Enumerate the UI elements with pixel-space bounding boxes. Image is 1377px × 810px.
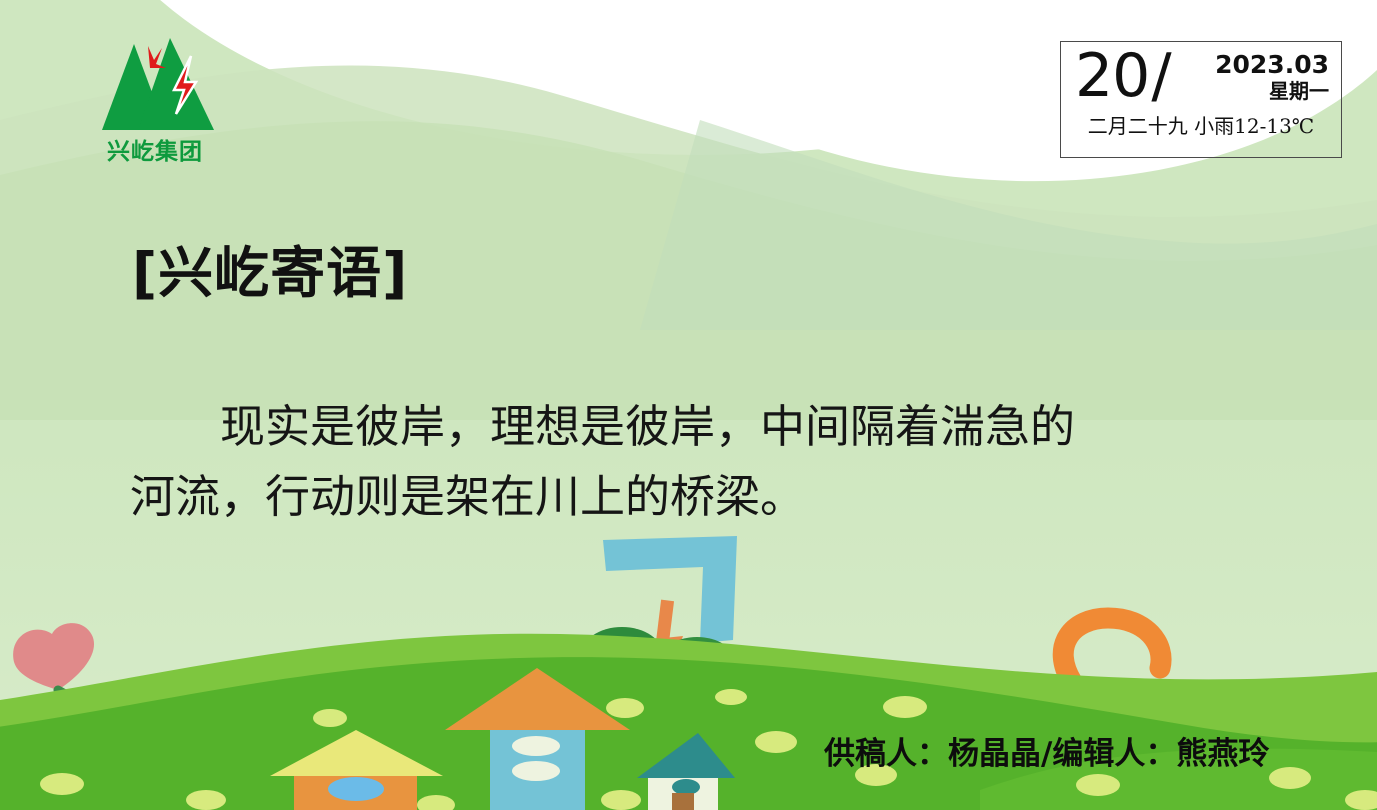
- quote-body: 现实是彼岸，理想是彼岸，中间隔着湍急的 河流，行动则是架在川上的桥梁。: [130, 392, 1250, 532]
- signpost-blue: [581, 536, 737, 700]
- house-yellow-roof: [270, 730, 443, 810]
- poster-canvas: 兴屹集团 20 / 2023.03 星期一 二月二十九 小雨12-13℃ [兴屹…: [0, 0, 1377, 810]
- date-slash-separator: /: [1151, 48, 1171, 105]
- quote-line-1: 现实是彼岸，理想是彼岸，中间隔着湍急的: [130, 392, 1250, 462]
- credit-line: 供稿人：杨晶晶/编辑人：熊燕玲: [824, 728, 1269, 773]
- date-card-right-column: 2023.03 星期一: [1215, 48, 1329, 103]
- date-card: 20 / 2023.03 星期一 二月二十九 小雨12-13℃: [1060, 41, 1342, 158]
- quote-line-2: 河流，行动则是架在川上的桥梁。: [130, 462, 1250, 532]
- house-teal-roof: [637, 733, 735, 810]
- date-lunar-and-weather: 二月二十九 小雨12-13℃: [1061, 110, 1341, 139]
- date-day: 20: [1075, 48, 1149, 105]
- page-title: [兴屹寄语]: [132, 228, 408, 308]
- logo-mountain-icon: [92, 38, 218, 130]
- date-year-month: 2023.03: [1215, 52, 1329, 78]
- logo-company-name: 兴屹集团: [92, 132, 218, 166]
- date-card-top-row: 20 / 2023.03 星期一: [1061, 42, 1341, 105]
- house-orange-roof: [445, 668, 630, 810]
- heart-flower-pink: [13, 623, 201, 758]
- date-weekday: 星期一: [1215, 79, 1329, 103]
- xingyi-group-logo: 兴屹集团: [92, 38, 218, 162]
- sprout-orange-hook: [988, 618, 1161, 736]
- hill-back: [0, 634, 1377, 810]
